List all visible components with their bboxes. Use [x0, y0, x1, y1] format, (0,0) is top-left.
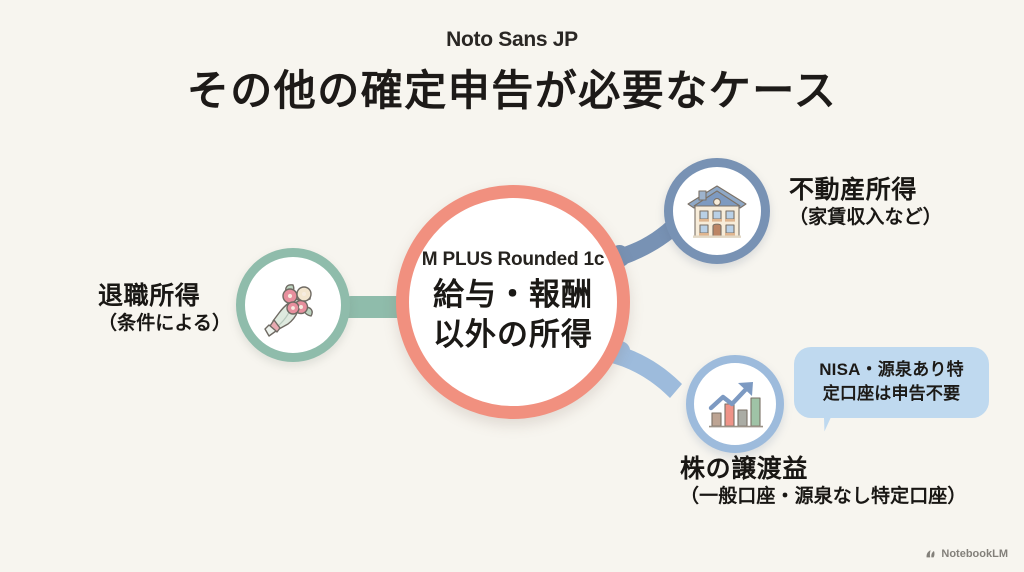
node-bottom-right-stocks[interactable]	[686, 355, 784, 453]
label-bottom-right-stocks: 株の譲渡益 （一般口座・源泉なし特定口座）	[680, 455, 967, 509]
watermark-label: NotebookLM	[941, 548, 1008, 560]
bar-chart-up-icon	[704, 373, 766, 435]
node-left-retirement[interactable]	[236, 248, 350, 362]
label-bottom-right-main: 株の譲渡益	[680, 455, 967, 483]
label-left-retirement: 退職所得 （条件による）	[98, 282, 231, 336]
center-node: M PLUS Rounded 1c 給与・報酬 以外の所得	[396, 185, 630, 419]
bouquet-icon	[257, 269, 329, 341]
center-label-line2: 以外の所得	[433, 315, 593, 355]
callout-bubble: NISA・源泉あり特 定口座は申告不要	[794, 347, 989, 418]
label-bottom-right-sub: （一般口座・源泉なし特定口座）	[680, 486, 967, 509]
node-top-right-realestate[interactable]	[664, 158, 770, 264]
callout-line2: 定口座は申告不要	[802, 382, 981, 406]
house-icon	[684, 178, 750, 244]
label-left-sub: （条件による）	[98, 313, 231, 336]
page-title: その他の確定申告が必要なケース	[0, 57, 1024, 118]
callout-line1: NISA・源泉あり特	[802, 358, 981, 382]
font-note-header: Noto Sans JP	[0, 28, 1024, 52]
label-top-right-realestate: 不動産所得 （家賃収入など）	[789, 176, 942, 230]
center-font-note: M PLUS Rounded 1c	[422, 249, 604, 271]
slide-canvas: Noto Sans JP その他の確定申告が必要なケース M PLUS Roun…	[0, 0, 1024, 572]
label-left-main: 退職所得	[98, 282, 231, 310]
center-label-line1: 給与・報酬	[433, 275, 593, 315]
watermark: NotebookLM	[925, 548, 1008, 560]
center-label: 給与・報酬 以外の所得	[433, 275, 593, 354]
label-top-right-main: 不動産所得	[789, 176, 942, 204]
label-top-right-sub: （家賃収入など）	[789, 207, 942, 230]
notebooklm-logo-icon	[925, 548, 937, 560]
